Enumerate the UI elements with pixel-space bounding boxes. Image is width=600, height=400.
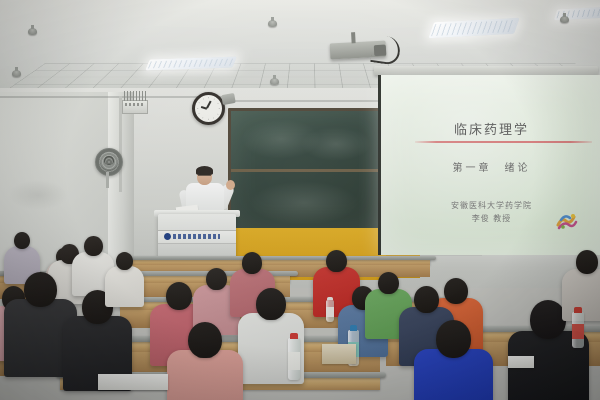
fan-mount-arm (106, 172, 109, 188)
sprinkler-head (12, 70, 21, 77)
chalkboard (228, 108, 386, 232)
student-head (206, 268, 227, 290)
clock-tick-marks (197, 97, 220, 120)
wall-fan (95, 148, 123, 176)
sprinkler-head (28, 28, 37, 35)
chalkboard-divider (231, 169, 383, 172)
notebook-front (98, 374, 168, 390)
bottle-cap (327, 297, 332, 300)
student-head (530, 300, 566, 339)
fan-support-pipe (119, 96, 122, 192)
bottle-cap (574, 307, 582, 312)
wall-control-box[interactable] (122, 100, 148, 114)
student-head (188, 322, 222, 358)
student-head (242, 252, 262, 274)
wall-clock (192, 92, 225, 125)
slide-divider-rule (415, 141, 592, 143)
sprinkler-head (268, 20, 277, 27)
sprinkler-head (270, 78, 279, 85)
bottle-label (572, 324, 584, 339)
student-head (84, 236, 103, 256)
student-head (326, 250, 347, 272)
desk-rail (126, 256, 436, 260)
projection-screen: 临床药理学 第一章 绪论 安徽医科大学药学院 李俊 教授 (378, 75, 600, 255)
student-head (444, 278, 468, 304)
fan-cage (98, 151, 120, 173)
podium-sign-text (173, 234, 220, 239)
water-bottle-right (572, 312, 584, 348)
lecture-hall-photo: 临床药理学 第一章 绪论 安徽医科大学药学院 李俊 教授 (0, 0, 600, 400)
wall-smudge (8, 180, 68, 210)
student-head (576, 250, 598, 274)
chalk-smudge (249, 181, 359, 225)
bottle-label (288, 352, 300, 370)
slide-title: 临床药理学 (381, 119, 600, 138)
lecture-slide: 临床药理学 第一章 绪论 安徽医科大学药学院 李俊 教授 (381, 75, 600, 255)
student-head (24, 272, 57, 307)
sprinkler-head (560, 16, 569, 23)
bottle-cap (350, 325, 357, 330)
student-head (414, 286, 439, 313)
bottle-cap (290, 333, 298, 339)
student-torso (105, 266, 143, 307)
student-head (436, 320, 471, 358)
lecturer-hair (196, 166, 213, 175)
lecturer-glasses (198, 175, 211, 179)
projection-screen-housing (374, 66, 598, 75)
student-head (378, 272, 399, 294)
water-bottle-center (288, 338, 300, 380)
university-logo-icon (552, 207, 580, 233)
carton-box (322, 344, 356, 364)
student-head (14, 232, 30, 249)
university-emblem-icon (164, 233, 171, 240)
slide-subtitle: 第一章 绪论 (381, 159, 600, 174)
water-bottle-small (326, 300, 334, 322)
notebook-right (508, 356, 534, 368)
bottle-label (326, 307, 334, 316)
student-head (256, 288, 286, 320)
wall-box-label (125, 103, 145, 106)
chalk-smudge (301, 127, 371, 161)
podium-university-sign (164, 232, 220, 240)
lecturer-right-hand (226, 180, 235, 190)
student-head (166, 282, 192, 310)
